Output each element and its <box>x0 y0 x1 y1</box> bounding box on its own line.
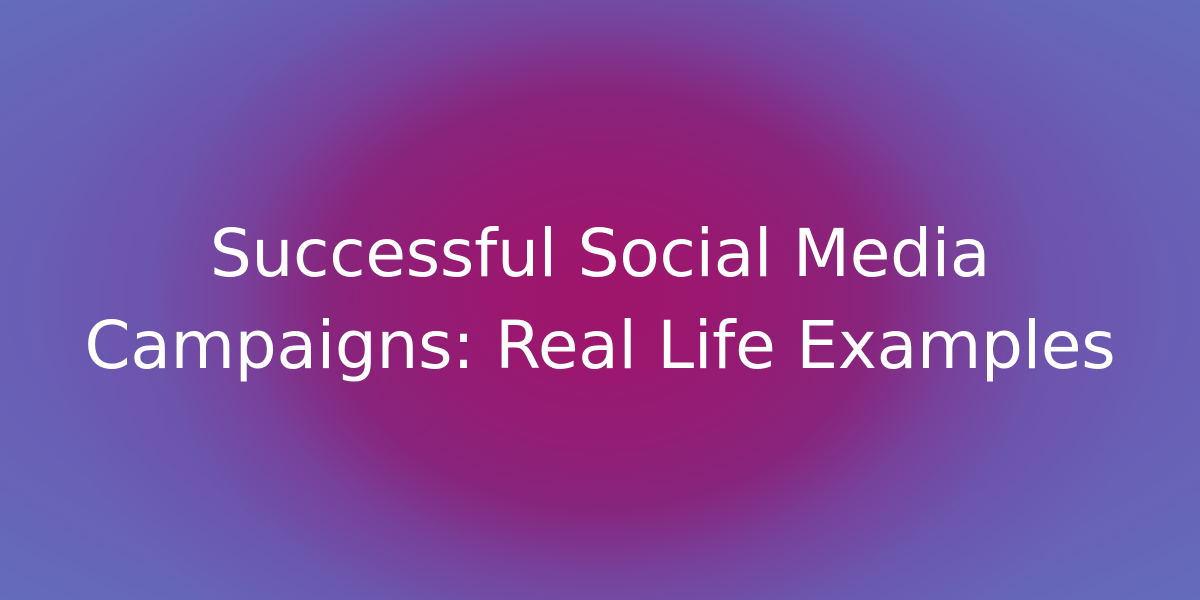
title-block: Successful Social Media Campaigns: Real … <box>0 0 1200 600</box>
page-title: Successful Social Media Campaigns: Real … <box>40 208 1160 392</box>
hero-banner: Successful Social Media Campaigns: Real … <box>0 0 1200 600</box>
